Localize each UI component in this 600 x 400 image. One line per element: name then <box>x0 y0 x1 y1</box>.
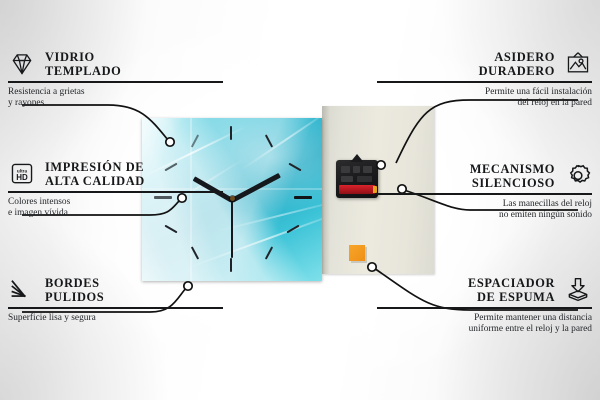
callout-divider <box>8 191 223 192</box>
hour-tick-11 <box>191 134 199 147</box>
callout-description: Las manecillas del reloj no emiten ningú… <box>377 199 592 222</box>
callout-title: MECANISMO SILENCIOSO <box>470 162 555 190</box>
callout-header: ultra HD IMPRESIÓN DE ALTA CALIDAD <box>8 160 223 188</box>
feature-callout-asidero-duradero[interactable]: ASIDERO DURADERO Permite una fácil insta… <box>377 50 592 110</box>
feature-callout-bordes-pulidos[interactable]: BORDES PULIDOS Superficie lisa y segura <box>8 276 223 324</box>
callout-description: Superficie lisa y segura <box>8 313 223 324</box>
callout-header: BORDES PULIDOS <box>8 276 223 304</box>
polished-edges-icon <box>8 277 36 303</box>
feature-callout-impresion-alta-calidad[interactable]: ultra HD IMPRESIÓN DE ALTA CALIDAD Color… <box>8 160 223 220</box>
callout-divider <box>377 81 592 82</box>
hour-tick-2 <box>288 163 301 172</box>
mechanism-detail <box>357 176 372 182</box>
callout-description: Permite mantener una distancia uniforme … <box>377 313 592 336</box>
hour-tick-8 <box>164 225 177 234</box>
hour-tick-4 <box>286 225 299 234</box>
callout-title: ASIDERO DURADERO <box>479 50 555 78</box>
mechanism-detail <box>363 166 372 173</box>
hour-tick-3 <box>294 196 312 199</box>
callout-header: MECANISMO SILENCIOSO <box>377 162 592 190</box>
hour-tick-5 <box>265 246 273 259</box>
ultra-hd-badge-icon: ultra HD <box>8 161 36 187</box>
hour-tick-1 <box>265 134 273 147</box>
callout-divider <box>8 81 223 82</box>
callout-divider <box>8 307 223 308</box>
callout-divider <box>377 307 592 308</box>
callout-header: VIDRIO TEMPLADO <box>8 50 223 78</box>
mechanism-detail <box>341 166 350 173</box>
callout-header: ESPACIADOR DE ESPUMA <box>377 276 592 304</box>
feature-callout-mecanismo-silencioso[interactable]: MECANISMO SILENCIOSO Las manecillas del … <box>377 162 592 222</box>
hour-tick-12 <box>230 126 232 140</box>
feather-streak <box>241 118 322 171</box>
callout-title: ESPACIADOR DE ESPUMA <box>468 276 555 304</box>
hour-tick-6 <box>230 258 232 272</box>
callout-header: ASIDERO DURADERO <box>377 50 592 78</box>
infographic-canvas: VIDRIO TEMPLADO Resistencia a grietas y … <box>0 0 600 400</box>
svg-text:HD: HD <box>16 173 28 182</box>
callout-title: BORDES PULIDOS <box>45 276 104 304</box>
callout-description: Colores intensos e imagen vívida <box>8 197 223 220</box>
hanging-frame-icon <box>564 51 592 77</box>
callout-title: IMPRESIÓN DE ALTA CALIDAD <box>45 160 145 188</box>
callout-description: Permite una fácil instalación del reloj … <box>377 87 592 110</box>
foam-spacer-piece <box>349 245 365 261</box>
clock-hands-hub <box>230 196 235 201</box>
mechanism-detail <box>341 176 353 182</box>
feature-callout-vidrio-templado[interactable]: VIDRIO TEMPLADO Resistencia a grietas y … <box>8 50 223 110</box>
callout-title: VIDRIO TEMPLADO <box>45 50 121 78</box>
foam-spacer-arrow-icon <box>564 277 592 303</box>
aa-battery <box>339 185 375 194</box>
second-hand <box>231 200 233 258</box>
feature-callout-espaciador-espuma[interactable]: ESPACIADOR DE ESPUMA Permite mantener un… <box>377 276 592 336</box>
gear-icon <box>564 163 592 189</box>
mechanism-detail <box>353 166 360 173</box>
callout-divider <box>377 193 592 194</box>
hour-tick-7 <box>191 246 199 259</box>
clock-mechanism <box>336 160 378 198</box>
diamond-icon <box>8 51 36 77</box>
callout-description: Resistencia a grietas y rayones <box>8 87 223 110</box>
